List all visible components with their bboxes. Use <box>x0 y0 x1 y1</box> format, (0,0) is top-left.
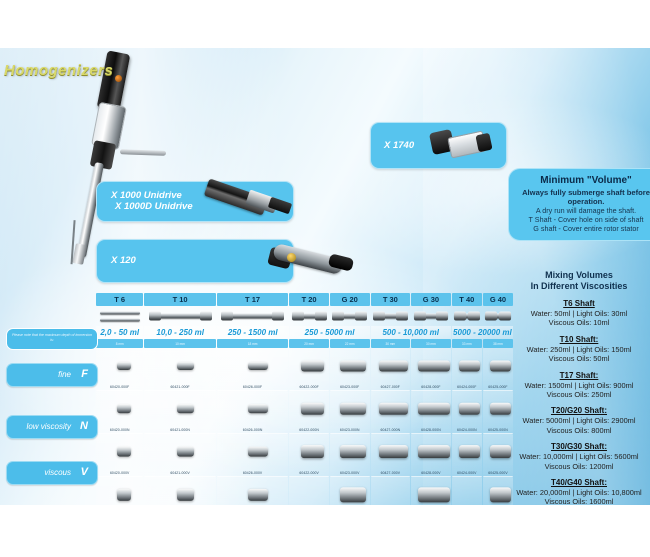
dispersing-tool-image <box>418 360 450 371</box>
dispersing-tool-image <box>379 445 408 459</box>
dispersing-tool-image <box>301 445 324 459</box>
dispersing-tool-image <box>459 445 480 459</box>
dispersing-tool-image <box>117 404 131 413</box>
minimum-volume-sub2: operation. <box>515 197 650 206</box>
shaft-illustration <box>289 306 329 326</box>
dispersing-tool-cell[interactable]: 60427-000N <box>371 391 411 434</box>
volume-block-title: T6 Shaft <box>508 299 650 309</box>
volume-block-line1: Water: 250ml | Light Oils: 150ml <box>508 345 650 354</box>
table-row: 60420-000F60421-000F60426-000F60422-000F… <box>96 348 514 391</box>
volume-block-line2: Viscous Oils: 1200ml <box>508 462 650 471</box>
shaft-illustration <box>371 306 411 326</box>
volume-block-line2: Viscous Oils: 800ml <box>508 426 650 435</box>
callout-x1000-line2: X 1000D Unidrive <box>111 201 193 212</box>
dispersing-tool-image <box>301 402 324 414</box>
table-column-header-t20: T 20 <box>289 293 329 306</box>
immersion-depth-note: Please note that the maximum depth of im… <box>6 328 98 350</box>
x120-device-dial <box>286 252 297 263</box>
callout-x1000-line1: X 1000 Unidrive <box>111 190 182 201</box>
dispersing-tool-image <box>177 362 194 370</box>
volume-block-title: T10 Shaft: <box>508 335 650 345</box>
dispersing-tool-image <box>459 360 480 371</box>
volume-range-cell: 500 - 10,000 ml <box>371 326 451 339</box>
sidebar-item-fine-label: fine <box>58 370 71 379</box>
dispersing-tool-cell[interactable]: 60426-000F <box>217 348 288 391</box>
volume-range-cell: 2,0 - 50 ml <box>96 326 143 339</box>
volume-block-line1: Water: 10,000ml | Light Oils: 5600ml <box>508 452 650 461</box>
table-column-header-t17: T 17 <box>217 293 288 306</box>
immersion-depth-note-text: Please note that the maximum depth of im… <box>7 329 97 343</box>
part-number: 60426-000V <box>217 471 288 475</box>
x1740-device-motor <box>429 129 455 155</box>
dispersing-tool-cell[interactable]: 60424-000V <box>452 434 482 477</box>
x1740-device-head <box>475 133 492 153</box>
diameter-cell: 18 mm <box>217 339 288 348</box>
volume-block-line2: Viscous Oils: 50ml <box>508 354 650 363</box>
volume-range-cell: 10,0 - 250 ml <box>144 326 216 339</box>
x1000-device-body <box>245 190 278 214</box>
dispersing-tool-cell[interactable]: 60423-000M <box>330 477 370 505</box>
volume-block: T20/G20 Shaft:Water: 5000ml | Light Oils… <box>508 406 650 435</box>
dispersing-tool-cell[interactable] <box>371 477 411 505</box>
dispersing-tool-cell[interactable] <box>452 477 482 505</box>
part-number: 60424-000V <box>452 471 482 475</box>
dispersing-tool-image <box>418 402 450 414</box>
part-number: 60427-000F <box>371 385 411 389</box>
dispersing-tool-image <box>117 362 131 370</box>
dispersing-tool-cell[interactable]: 60420-000V <box>96 434 143 477</box>
callout-x120[interactable]: X 120 <box>96 239 294 283</box>
table-body: 60420-000F60421-000F60426-000F60422-000F… <box>96 348 514 505</box>
volume-block-line2: Viscous Oils: 10ml <box>508 318 650 327</box>
sidebar-item-fine[interactable]: fine F <box>6 363 98 387</box>
x1000-device-icon <box>204 178 268 215</box>
part-number: 60420-000N <box>96 428 143 432</box>
table-column-header-t10: T 10 <box>144 293 215 306</box>
poster-canvas: Homogenizers X 1000 Unidrive X 1000D Uni… <box>0 48 650 505</box>
dispersing-tool-image <box>177 489 194 501</box>
dispersing-tool-cell[interactable]: 60422-000N <box>289 391 329 434</box>
dispersing-tool-cell[interactable]: 60426-000N <box>217 391 288 434</box>
dispersing-tool-cell[interactable]: 60424-000F <box>452 348 482 391</box>
dispersing-tool-cell[interactable]: 60420-000F <box>96 348 143 391</box>
volume-range-cell: 5000 - 20000 ml <box>452 326 513 339</box>
table-column-header-g20: G 20 <box>330 293 370 306</box>
x120-device-tail <box>328 253 354 271</box>
dispersing-tool-image <box>301 360 324 371</box>
mixing-volumes-heading-1: Mixing Volumes <box>508 270 650 281</box>
dispersing-tool-cell[interactable]: 60420-000M <box>96 477 143 505</box>
table-column-header-t40: T 40 <box>452 293 482 306</box>
mixing-volumes-panel: Mixing Volumes In Different Viscosities … <box>508 270 650 505</box>
table-row: 60420-000N60421-000N60426-000N60422-000N… <box>96 391 514 434</box>
dispersing-tool-cell[interactable]: 60428-000N <box>411 391 451 434</box>
minimum-volume-line3: G shaft - Cover entire rotor stator <box>515 224 650 233</box>
x120-device-head <box>267 247 293 270</box>
part-number: 60427-000N <box>371 428 411 432</box>
dispersing-tool-cell[interactable]: 60421-000V <box>144 434 215 477</box>
part-number: 60421-000N <box>144 428 215 432</box>
shaft-illustration <box>452 306 482 326</box>
dispersing-tool-image <box>177 446 194 457</box>
minimum-volume-line2: T Shaft - Cover hole on side of shaft <box>515 215 650 224</box>
dispersing-tool-cell[interactable]: 60423-000N <box>330 391 370 434</box>
dispersing-tool-cell[interactable]: 60422-000F <box>289 348 329 391</box>
dispersing-tool-image <box>248 446 268 457</box>
part-number: 60421-000V <box>144 471 215 475</box>
x1000-unidrive-photo <box>62 50 188 266</box>
dispersing-tool-cell[interactable]: 60428-000M <box>411 477 451 505</box>
mixing-volumes-heading-2: In Different Viscosities <box>508 281 650 292</box>
volume-block: T30/G30 Shaft:Water: 10,000ml | Light Oi… <box>508 442 650 471</box>
table-shaft-illustration-row <box>96 306 514 326</box>
x120-device-icon <box>272 243 344 275</box>
dispersing-tool-image <box>379 402 408 414</box>
part-number: 60423-000N <box>330 428 370 432</box>
part-number: 60427-000V <box>371 471 411 475</box>
dispersing-tool-cell[interactable]: 60423-000F <box>330 348 370 391</box>
part-number: 60426-000F <box>217 385 288 389</box>
part-number: 60420-000F <box>96 385 143 389</box>
dispersing-tool-image <box>177 404 194 413</box>
dispersing-tool-cell[interactable]: 60427-000V <box>371 434 411 477</box>
shaft-illustration <box>96 306 143 326</box>
dispersing-tool-image <box>340 487 366 502</box>
dispersing-tool-cell[interactable]: 60421-000N <box>144 391 215 434</box>
dispersing-tool-image <box>340 360 366 371</box>
diameter-cell: 8 mm <box>96 339 143 348</box>
minimum-volume-heading: Minimum "Volume" <box>515 175 650 186</box>
volume-block-title: T17 Shaft: <box>508 371 650 381</box>
sidebar-item-viscous-label: viscous <box>44 468 71 477</box>
dispersing-tool-cell[interactable]: 60422-000V <box>289 434 329 477</box>
volume-block-line1: Water: 5000ml | Light Oils: 2900ml <box>508 416 650 425</box>
dispersing-tool-image <box>418 445 450 459</box>
volume-block-title: T20/G20 Shaft: <box>508 406 650 416</box>
table-diameter-row: 8 mm10 mm18 mm20 mm22 mm30 mm30 mm33 mm3… <box>96 339 514 348</box>
callout-x1000-unidrive[interactable]: X 1000 Unidrive X 1000D Unidrive <box>96 181 294 222</box>
volume-range-cell: 250 - 1500 ml <box>217 326 289 339</box>
callout-x120-label: X 120 <box>111 255 136 266</box>
table-column-header-t6: T 6 <box>96 293 143 306</box>
dispersing-tool-image <box>117 446 131 457</box>
dispersing-tool-cell[interactable] <box>289 477 329 505</box>
part-number: 60422-000N <box>289 428 329 432</box>
part-number: 60428-000F <box>411 385 451 389</box>
dispersing-tool-cell[interactable]: 60428-000F <box>411 348 451 391</box>
dispersing-tool-cell[interactable]: 60427-000F <box>371 348 411 391</box>
diameter-cell: 30 mm <box>371 339 411 348</box>
diameter-cell: 30 mm <box>411 339 451 348</box>
part-number: 60423-000F <box>330 385 370 389</box>
dispersing-tool-cell[interactable]: 60423-000V <box>330 434 370 477</box>
dispersing-tool-image <box>248 489 268 501</box>
dispersing-tool-image <box>379 360 408 371</box>
dispersing-tool-image <box>459 402 480 414</box>
dispersing-tool-image <box>117 489 131 501</box>
diameter-cell: 33 mm <box>452 339 482 348</box>
sidebar-item-viscous-key: V <box>81 466 88 478</box>
part-number: 60428-000N <box>411 428 451 432</box>
volume-block: T40/G40 Shaft:Water: 20,000ml | Light Oi… <box>508 478 650 505</box>
table-row: 60420-000V60421-000V60426-000V60422-000V… <box>96 434 514 477</box>
volume-block-line1: Water: 20,000ml | Light Oils: 10,800ml <box>508 488 650 497</box>
shaft-illustration <box>144 306 215 326</box>
dispersing-tools-table: T 6T 10T 17T 20G 20T 30G 30T 40G 40 2,0 … <box>96 293 514 505</box>
diameter-cell: 20 mm <box>289 339 329 348</box>
sidebar-item-fine-key: F <box>81 368 88 380</box>
table-volume-range-row: 2,0 - 50 ml10,0 - 250 ml250 - 1500 ml250… <box>96 326 514 339</box>
table-column-header-t30: T 30 <box>371 293 411 306</box>
dispersing-tool-cell[interactable]: 60426-000M <box>217 477 288 505</box>
dispersing-tool-image <box>340 402 366 414</box>
part-number: 60422-000F <box>289 385 329 389</box>
volume-block-line1: Water: 50ml | Light Oils: 30ml <box>508 309 650 318</box>
sidebar-item-viscous[interactable]: viscous V <box>6 461 98 485</box>
volume-block-title: T30/G30 Shaft: <box>508 442 650 452</box>
minimum-volume-sub1: Always fully submerge shaft before <box>515 188 650 197</box>
dispersing-tool-cell[interactable]: 60424-000N <box>452 391 482 434</box>
sidebar-item-low-viscosity-label: low viscosity <box>27 422 71 431</box>
dispersing-tool-image <box>418 487 450 502</box>
volume-block-line2: Viscous Oils: 1600ml <box>508 497 650 505</box>
minimum-volume-line1: A dry run will damage the shaft. <box>515 206 650 215</box>
x1000-device-tip <box>268 197 292 215</box>
dispersing-tool-image <box>248 362 268 370</box>
x1740-device-chamber <box>447 130 487 158</box>
volume-block: T6 ShaftWater: 50ml | Light Oils: 30mlVi… <box>508 299 650 328</box>
shaft-illustration <box>411 306 451 326</box>
part-number: 60420-000V <box>96 471 143 475</box>
diameter-cell: 10 mm <box>144 339 215 348</box>
part-number: 60424-000N <box>452 428 482 432</box>
dispersing-tool-cell[interactable]: 60420-000N <box>96 391 143 434</box>
sidebar-item-low-viscosity[interactable]: low viscosity N <box>6 415 98 439</box>
shaft-illustration <box>217 306 288 326</box>
shaft-illustration <box>330 306 370 326</box>
part-number: 60428-000V <box>411 471 451 475</box>
part-number: 60421-000F <box>144 385 215 389</box>
minimum-volume-panel: Minimum "Volume" Always fully submerge s… <box>508 168 650 241</box>
part-number: 60423-000V <box>330 471 370 475</box>
callout-x1740[interactable]: X 1740 <box>370 122 507 169</box>
part-number: 60426-000N <box>217 428 288 432</box>
dispersing-tool-image <box>340 445 366 459</box>
volume-block-title: T40/G40 Shaft: <box>508 478 650 488</box>
table-row: 60420-000M60421-000M60426-000M60423-000M… <box>96 477 514 505</box>
part-number: 60422-000V <box>289 471 329 475</box>
sidebar-item-low-viscosity-key: N <box>80 420 88 432</box>
diameter-cell: 22 mm <box>330 339 370 348</box>
volume-block-line1: Water: 1500ml | Light Oils: 900ml <box>508 381 650 390</box>
dispersing-tool-cell[interactable]: 60421-000F <box>144 348 215 391</box>
dispersing-tool-cell[interactable]: 60428-000V <box>411 434 451 477</box>
dispersing-tool-image <box>248 404 268 413</box>
part-number: 60424-000F <box>452 385 482 389</box>
volume-block-line2: Viscous Oils: 250ml <box>508 390 650 399</box>
table-header-row: T 6T 10T 17T 20G 20T 30G 30T 40G 40 <box>96 293 514 306</box>
volume-block: T17 Shaft:Water: 1500ml | Light Oils: 90… <box>508 371 650 400</box>
callout-x1740-label: X 1740 <box>384 140 414 151</box>
table-column-header-g30: G 30 <box>411 293 451 306</box>
dispersing-tool-cell[interactable]: 60426-000V <box>217 434 288 477</box>
volume-range-cell: 250 - 5000 ml <box>290 326 370 339</box>
volume-block: T10 Shaft:Water: 250ml | Light Oils: 150… <box>508 335 650 364</box>
page-title: Homogenizers <box>4 62 113 79</box>
dispersing-tool-cell[interactable]: 60421-000M <box>144 477 215 505</box>
